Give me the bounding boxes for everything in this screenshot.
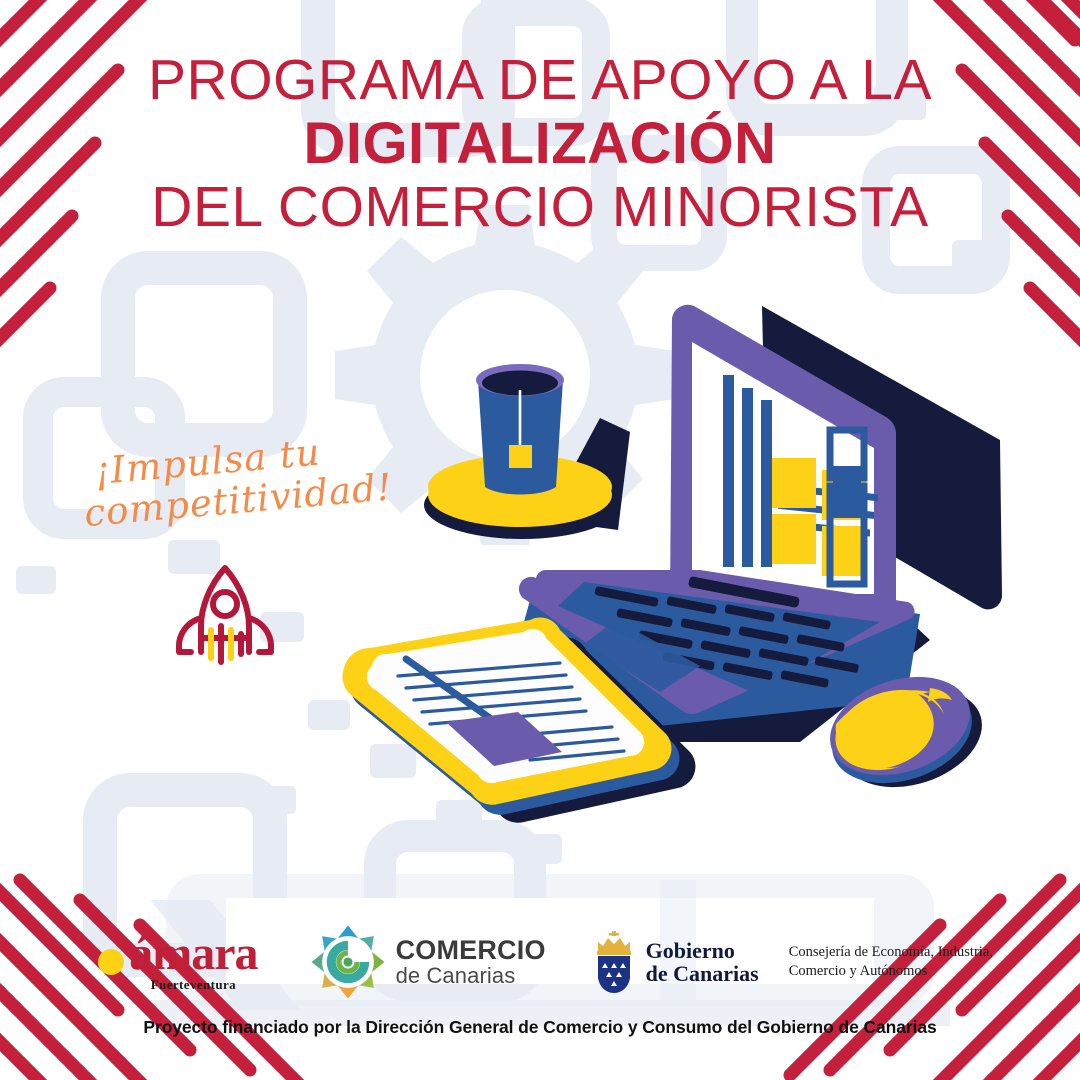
title-line-3: DEL COMERCIO MINORISTA [0,179,1080,236]
comercio-de-canarias-logo: COMERCIO de Canarias [310,922,546,1002]
consejeria-text: Consejería de Economía, Industria, Comer… [789,943,999,980]
camara-fuerteventura-logo: ámara Fuerteventura [81,931,257,994]
comercio-sun-icon [310,922,386,1002]
comercio-line-1: COMERCIO [396,937,546,965]
camara-wordmark: ámara [129,931,257,977]
gobierno-de-canarias-logo: Gobierno de Canarias [590,929,759,995]
poster-title: PROGRAMA DE APOYO A LA DIGITALIZACIÓN DE… [0,52,1080,236]
shield-icon [598,956,630,993]
camara-subtitle: Fuerteventura [151,977,236,993]
funding-caption: Proyecto financiado por la Dirección Gen… [0,1014,1080,1040]
gobierno-line-1: Gobierno [646,939,759,962]
comercio-line-2: de Canarias [396,965,546,987]
tea-bag-tag [509,445,532,468]
logo-row: ámara Fuerteventura [0,914,1080,1010]
coffee-cup [476,364,564,495]
title-line-2: DIGITALIZACIÓN [0,115,1080,173]
poster-canvas: PROGRAMA DE APOYO A LA DIGITALIZACIÓN DE… [0,0,1080,1080]
title-line-1: PROGRAMA DE APOYO A LA [0,52,1080,109]
canary-islands-crest-icon [590,929,638,995]
footer: ámara Fuerteventura [0,904,1080,1080]
camara-c-mark [81,933,133,991]
crown-icon [597,931,631,955]
gobierno-line-2: de Canarias [646,962,759,985]
